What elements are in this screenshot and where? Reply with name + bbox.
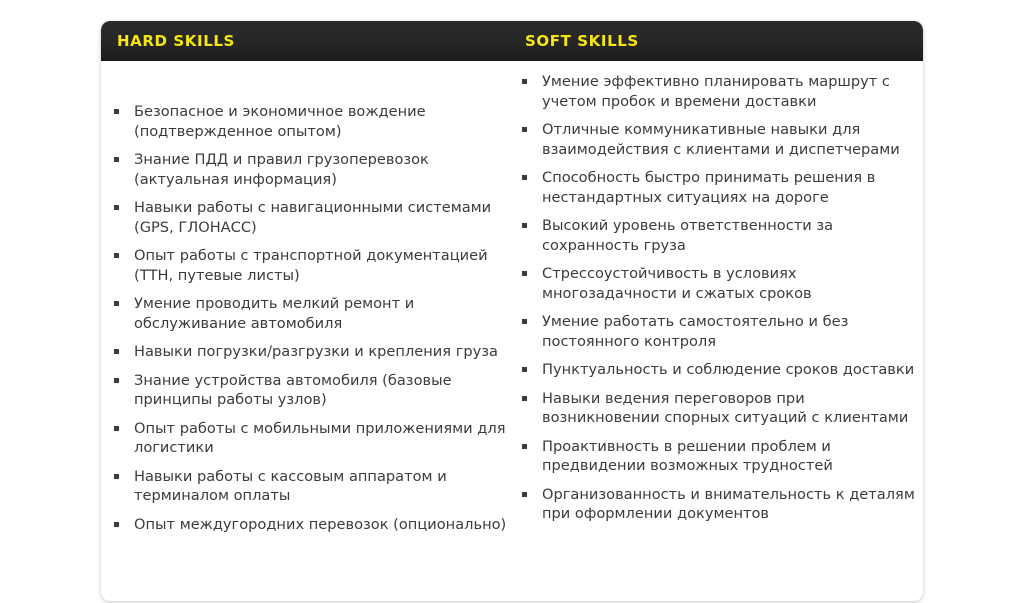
column-soft-skills: Умение эффективно планировать маршрут с …	[521, 61, 917, 533]
list-item: Стрессоустойчивость в условиях многозада…	[521, 264, 923, 303]
list-item-label: Проактивность в решении проблем и предви…	[542, 438, 833, 475]
column-header-hard-skills: HARD SKILLS	[117, 34, 235, 49]
list-item: Безопасное и экономичное вождение (подтв…	[113, 102, 512, 141]
list-item: Навыки ведения переговоров при возникнов…	[521, 389, 923, 428]
list-item: Умение проводить мелкий ремонт и обслужи…	[113, 294, 512, 333]
bullet-square-icon	[522, 223, 527, 228]
list-item: Умение эффективно планировать маршрут с …	[521, 72, 923, 111]
bullet-square-icon	[114, 253, 119, 258]
list-item: Пунктуальность и соблюдение сроков доста…	[521, 360, 923, 380]
bullet-square-icon	[114, 378, 119, 383]
list-item: Опыт работы с мобильными приложениями дл…	[113, 419, 512, 458]
list-item: Навыки погрузки/разгрузки и крепления гр…	[113, 342, 512, 362]
list-item: Отличные коммуникативные навыки для взаи…	[521, 120, 923, 159]
list-item-label: Навыки работы с навигационными системами…	[134, 199, 491, 236]
card-body: Безопасное и экономичное вождение (подтв…	[101, 61, 923, 601]
card-header: HARD SKILLS SOFT SKILLS	[101, 21, 923, 61]
list-item: Организованность и внимательность к дета…	[521, 485, 923, 524]
list-item-label: Опыт работы с транспортной документацией…	[134, 247, 488, 284]
bullet-square-icon	[522, 127, 527, 132]
bullet-square-icon	[114, 426, 119, 431]
list-item-label: Навыки ведения переговоров при возникнов…	[542, 390, 908, 427]
list-item: Умение работать самостоятельно и без пос…	[521, 312, 923, 351]
bullet-square-icon	[114, 205, 119, 210]
column-header-soft-skills: SOFT SKILLS	[525, 34, 639, 49]
list-item-label: Стрессоустойчивость в условиях многозада…	[542, 265, 812, 302]
bullet-square-icon	[522, 271, 527, 276]
list-item-label: Умение работать самостоятельно и без пос…	[542, 313, 848, 350]
list-item-label: Опыт междугородних перевозок (опциональн…	[134, 516, 506, 533]
list-item-label: Отличные коммуникативные навыки для взаи…	[542, 121, 900, 158]
list-item-label: Знание ПДД и правил грузоперевозок (акту…	[134, 151, 429, 188]
bullet-square-icon	[522, 175, 527, 180]
column-hard-skills: Безопасное и экономичное вождение (подтв…	[113, 61, 509, 543]
list-item-label: Пунктуальность и соблюдение сроков доста…	[542, 361, 914, 378]
list-item-label: Навыки погрузки/разгрузки и крепления гр…	[134, 343, 498, 360]
bullet-square-icon	[522, 367, 527, 372]
soft-skills-list: Умение эффективно планировать маршрут с …	[521, 61, 917, 524]
list-item-label: Высокий уровень ответственности за сохра…	[542, 217, 833, 254]
bullet-square-icon	[522, 444, 527, 449]
list-item: Навыки работы с кассовым аппаратом и тер…	[113, 467, 512, 506]
bullet-square-icon	[114, 157, 119, 162]
list-item: Опыт междугородних перевозок (опциональн…	[113, 515, 512, 535]
list-item-label: Умение проводить мелкий ремонт и обслужи…	[134, 295, 414, 332]
bullet-square-icon	[114, 522, 119, 527]
bullet-square-icon	[114, 474, 119, 479]
bullet-square-icon	[114, 349, 119, 354]
bullet-square-icon	[522, 492, 527, 497]
list-item-label: Умение эффективно планировать маршрут с …	[542, 73, 890, 110]
list-item: Способность быстро принимать решения в н…	[521, 168, 923, 207]
bullet-square-icon	[522, 79, 527, 84]
list-item: Проактивность в решении проблем и предви…	[521, 437, 923, 476]
list-item: Высокий уровень ответственности за сохра…	[521, 216, 923, 255]
hard-skills-list: Безопасное и экономичное вождение (подтв…	[113, 61, 509, 534]
list-item-label: Навыки работы с кассовым аппаратом и тер…	[134, 468, 447, 505]
list-item: Навыки работы с навигационными системами…	[113, 198, 512, 237]
list-item: Опыт работы с транспортной документацией…	[113, 246, 512, 285]
list-item: Знание устройства автомобиля (базовые пр…	[113, 371, 512, 410]
list-item-label: Организованность и внимательность к дета…	[542, 486, 915, 523]
bullet-square-icon	[522, 319, 527, 324]
skills-card: HARD SKILLS SOFT SKILLS Безопасное и эко…	[101, 21, 923, 601]
bullet-square-icon	[114, 301, 119, 306]
page-root: HARD SKILLS SOFT SKILLS Безопасное и эко…	[0, 0, 1024, 603]
list-item: Знание ПДД и правил грузоперевозок (акту…	[113, 150, 512, 189]
bullet-square-icon	[522, 396, 527, 401]
list-item-label: Безопасное и экономичное вождение (подтв…	[134, 103, 426, 140]
list-item-label: Опыт работы с мобильными приложениями дл…	[134, 420, 506, 457]
list-item-label: Знание устройства автомобиля (базовые пр…	[134, 372, 452, 409]
bullet-square-icon	[114, 109, 119, 114]
list-item-label: Способность быстро принимать решения в н…	[542, 169, 875, 206]
